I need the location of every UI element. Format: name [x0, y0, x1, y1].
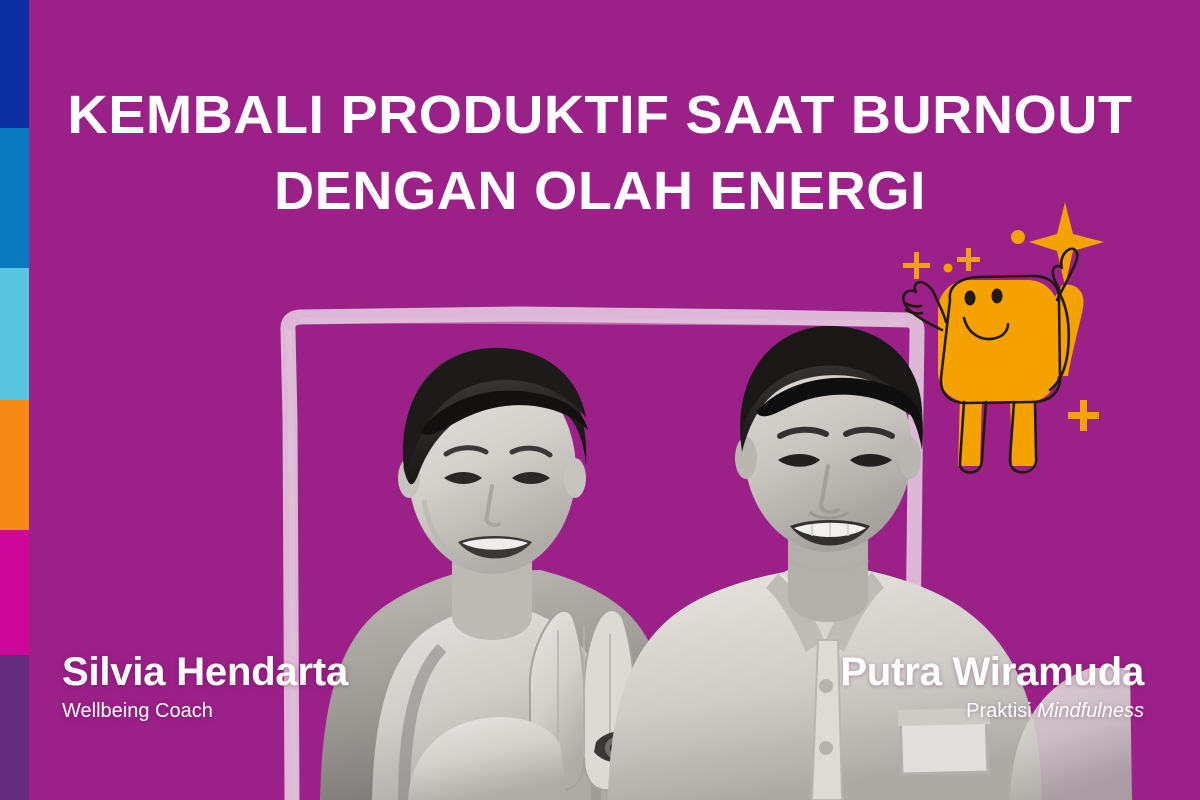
mascot-illustration	[890, 190, 1140, 480]
speaker-name-1: Silvia Hendarta	[62, 650, 348, 694]
swatch-medium-blue	[0, 128, 29, 268]
speaker-name-2: Putra Wiramuda	[840, 650, 1144, 694]
speaker-role-2-prefix: Praktisi	[966, 700, 1037, 722]
speaker-role-2: Praktisi Mindfulness	[840, 698, 1144, 724]
left-color-strip	[0, 0, 29, 800]
sparkle-dot-icon	[1011, 230, 1025, 244]
sparkle-plus-icon-left	[903, 252, 930, 279]
speaker-role-1-prefix: Wellbeing Coach	[62, 700, 213, 722]
speaker-role-1: Wellbeing Coach	[62, 698, 348, 724]
title-line-2: DENGAN OLAH ENERGI	[0, 158, 1200, 224]
page-title: KEMBALI PRODUKTIF SAAT BURNOUT DENGAN OL…	[0, 82, 1200, 224]
swatch-cyan	[0, 268, 29, 400]
mascot-eye-left	[965, 291, 976, 306]
speaker-role-2-italic: Mindfulness	[1037, 700, 1144, 722]
speaker-block-1: Silvia Hendarta Wellbeing Coach	[62, 650, 348, 724]
sparkle-dot-small-icon	[944, 264, 953, 273]
mascot-eye-right	[992, 289, 1003, 304]
sparkle-plus-icon-top	[957, 248, 980, 271]
swatch-dark-blue	[0, 0, 29, 128]
sparkle-plus-icon-bottom	[1068, 400, 1099, 431]
speaker-block-2: Putra Wiramuda Praktisi Mindfulness	[840, 650, 1144, 724]
swatch-magenta	[0, 530, 29, 655]
title-line-1: KEMBALI PRODUKTIF SAAT BURNOUT	[0, 82, 1200, 148]
swatch-orange	[0, 400, 29, 530]
webinar-poster: KEMBALI PRODUKTIF SAAT BURNOUT DENGAN OL…	[0, 0, 1200, 800]
swatch-dark-purple	[0, 655, 29, 800]
